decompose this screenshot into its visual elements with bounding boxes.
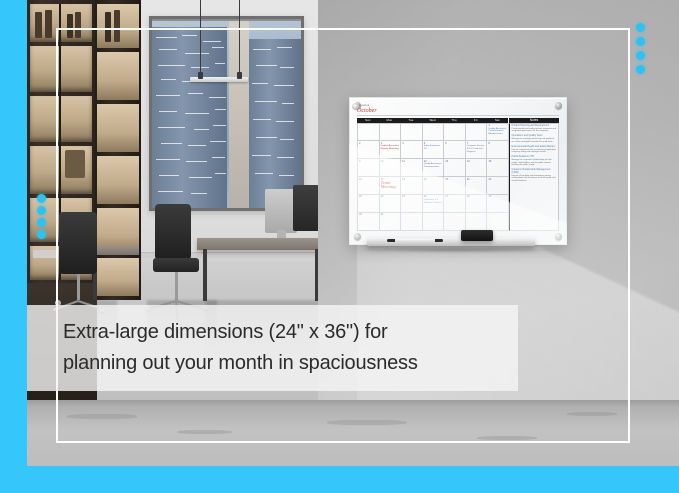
office-chair-center-post xyxy=(175,272,178,300)
calendar-day-cell[interactable] xyxy=(423,213,445,231)
calendar-day-cell[interactable] xyxy=(401,124,423,142)
calendar-day-number: 20 xyxy=(445,178,464,181)
calendar-day-number: 16 xyxy=(359,178,378,181)
calendar-day-cell[interactable]: 23 xyxy=(358,195,380,213)
calendar-day-number: 28 xyxy=(467,195,486,198)
window-glass xyxy=(152,19,301,208)
caption-overlay: Extra-large dimensions (24" x 36") for p… xyxy=(0,305,518,391)
calendar-day-number: 13 xyxy=(445,160,464,163)
calendar-day-number: 18 xyxy=(402,178,421,181)
calendar-day-number: 15 xyxy=(488,160,507,163)
calendar-day-cell[interactable]: 3Product Assurance Reports Marketing xyxy=(380,141,402,159)
accent-dot xyxy=(37,218,46,227)
calendar-event: Operations 2.0 Software Counters xyxy=(424,199,443,204)
note-item: Operations and Quality TeamManage the ex… xyxy=(512,135,557,143)
desk-leg-left xyxy=(203,249,207,301)
calendar-day-cell[interactable]: 21 xyxy=(466,177,488,195)
calendar-day-cell[interactable] xyxy=(487,213,509,231)
calendar-day-cell[interactable]: 15 xyxy=(487,159,509,177)
calendar-body: 1Quality Assurance Communication Adminis… xyxy=(357,123,559,231)
brand-logo-icon xyxy=(352,103,359,110)
office-chair-center-back xyxy=(155,204,191,260)
calendar-day-number: 24 xyxy=(381,195,400,198)
calendar-day-cell[interactable]: 12Quality Assurance Communication xyxy=(423,159,445,177)
calendar-day-cell[interactable]: 14 xyxy=(466,159,488,177)
calendar-day-cell[interactable]: 31 xyxy=(380,213,402,231)
calendar-day-cell[interactable] xyxy=(444,124,466,142)
calendar-day-cell[interactable]: 26Operations 2.0 Software Counters xyxy=(423,195,445,213)
calendar-day-cell[interactable]: 11 xyxy=(401,159,423,177)
calendar-day-cell[interactable]: 16 xyxy=(358,177,380,195)
calendar-day-cell[interactable]: 1Quality Assurance Communication Adminis… xyxy=(487,124,509,142)
calendar-day-number: 2 xyxy=(359,142,378,145)
calendar-event: Customer Service R & D Lead and Progress xyxy=(467,145,486,153)
whiteboard-drop-shadow xyxy=(355,247,561,253)
calendar-day-cell[interactable]: 10 xyxy=(380,159,402,177)
calendar-day-cell[interactable] xyxy=(466,124,488,142)
office-chair-center-seat xyxy=(153,258,199,272)
office-scene-photo: Advantus October Sun Mon Tue Wed Thu Fri… xyxy=(27,0,679,466)
calendar-day-cell[interactable] xyxy=(358,124,380,142)
calendar-day-cell[interactable]: 22 xyxy=(487,177,509,195)
accent-dot xyxy=(37,230,46,239)
calendar-day-cell[interactable]: 19 xyxy=(423,177,445,195)
calendar-day-number: 27 xyxy=(445,195,464,198)
note-item: Environmental Health and Safety MetricsE… xyxy=(512,146,557,154)
accent-dot xyxy=(636,37,645,46)
calendar-event: Product Assurance Reports Marketing xyxy=(381,145,400,150)
accent-dot xyxy=(37,194,46,203)
floor-surface xyxy=(27,400,679,466)
calendar-day-cell[interactable] xyxy=(423,124,445,142)
marker-cap-left xyxy=(387,239,395,242)
note-item: Customer Relationship Management (CRM)En… xyxy=(512,169,557,182)
whiteboard-eraser[interactable] xyxy=(461,230,493,241)
notes-column[interactable]: Product Planning and DevelopmentCreate p… xyxy=(509,123,559,231)
calendar-day-cell[interactable]: 18 xyxy=(401,177,423,195)
note-body: Manage the existing partnership and qual… xyxy=(512,138,557,143)
marker-cap-right xyxy=(435,239,443,242)
calendar-event: Team Meeting xyxy=(381,181,400,191)
accent-dots-left xyxy=(37,194,46,242)
pendant-clip-right xyxy=(237,72,242,79)
calendar-event: Sales Evaluation 2.0 xyxy=(424,145,443,150)
pendant-clip-left xyxy=(198,72,203,79)
calendar-day-number: 8 xyxy=(488,142,507,145)
calendar-day-cell[interactable]: 25 xyxy=(401,195,423,213)
calendar-event: Quality Assurance Communication Administ… xyxy=(488,128,507,136)
calendar-day-number: 30 xyxy=(359,213,378,216)
accent-dot xyxy=(37,206,46,215)
calendar-day-cell[interactable]: 9 xyxy=(358,159,380,177)
calendar-day-cell[interactable]: 6 xyxy=(444,141,466,159)
note-body: Ensure compliance with environment regul… xyxy=(512,149,557,154)
mount-screw-bottom-right xyxy=(555,233,562,240)
office-chair-left-post xyxy=(77,274,80,300)
bookshelf-secondary xyxy=(95,0,141,300)
calendar-day-number: 22 xyxy=(488,178,507,181)
calendar-day-number: 21 xyxy=(467,178,486,181)
desk-leg-right xyxy=(315,249,318,301)
accent-dot xyxy=(636,51,645,60)
calendar-day-grid[interactable]: 1Quality Assurance Communication Adminis… xyxy=(357,123,509,231)
calendar-day-number: 23 xyxy=(359,195,378,198)
calendar-day-number: 11 xyxy=(402,160,421,163)
pendant-wire-right xyxy=(239,0,240,78)
calendar-day-cell[interactable]: 30 xyxy=(358,213,380,231)
brand-border-bottom xyxy=(0,466,679,493)
calendar-day-cell[interactable]: 17Team Meeting xyxy=(380,177,402,195)
accent-dot xyxy=(636,65,645,74)
monitor-secondary xyxy=(293,185,318,231)
calendar-day-number: 10 xyxy=(381,160,400,163)
mount-screw-bottom-left xyxy=(354,233,361,240)
office-chair-left-back xyxy=(59,212,97,274)
calendar-day-number: 14 xyxy=(467,160,486,163)
calendar-day-number: 31 xyxy=(381,213,400,216)
calendar-day-cell[interactable] xyxy=(444,213,466,231)
caption-line-1: Extra-large dimensions (24" x 36") for xyxy=(63,317,518,348)
calendar-day-cell[interactable]: 2 xyxy=(358,141,380,159)
note-body: Ensure all handling and maintaining stro… xyxy=(512,175,557,183)
brand-border-left xyxy=(0,0,27,493)
calendar-day-number: 4 xyxy=(402,142,421,145)
header-rule xyxy=(357,115,559,116)
desk xyxy=(197,238,318,250)
calendar-day-cell[interactable] xyxy=(401,213,423,231)
pendant-wire-left xyxy=(200,0,201,78)
caption-line-2: planning out your month in spaciousness xyxy=(63,348,518,379)
whiteboard-brand-label: Advantus xyxy=(357,104,559,107)
calendar-day-number: 19 xyxy=(424,178,443,181)
calendar-month-label: October xyxy=(357,108,559,114)
calendar-day-cell[interactable]: 5Sales Evaluation 2.0 xyxy=(423,141,445,159)
calendar-event: Quality Assurance Communication xyxy=(424,163,443,168)
calendar-day-cell[interactable]: 8 xyxy=(487,141,509,159)
calendar-day-number: 25 xyxy=(402,195,421,198)
calendar-day-cell[interactable]: 24 xyxy=(380,195,402,213)
calendar-day-number: 9 xyxy=(359,160,378,163)
calendar-day-cell[interactable]: 7Customer Service R & D Lead and Progres… xyxy=(466,141,488,159)
note-item: Public Relations / PRManage the corporat… xyxy=(512,156,557,166)
accent-dots-right xyxy=(636,23,645,79)
calendar-day-cell[interactable]: 4 xyxy=(401,141,423,159)
calendar-day-cell[interactable]: 28 xyxy=(466,195,488,213)
accent-dot xyxy=(636,23,645,32)
calendar-printed-area: Advantus October Sun Mon Tue Wed Thu Fri… xyxy=(357,104,559,230)
calendar-day-cell[interactable]: 20 xyxy=(444,177,466,195)
office-window xyxy=(149,16,304,211)
calendar-day-cell[interactable] xyxy=(466,213,488,231)
product-lifestyle-image: Advantus October Sun Mon Tue Wed Thu Fri… xyxy=(0,0,679,493)
note-body: Manage the corporate relationships with … xyxy=(512,159,557,167)
glass-whiteboard-calendar[interactable]: Advantus October Sun Mon Tue Wed Thu Fri… xyxy=(349,97,567,252)
calendar-day-cell[interactable]: 13 xyxy=(444,159,466,177)
note-body: Create production-leading service progra… xyxy=(512,128,557,133)
calendar-day-cell[interactable] xyxy=(380,124,402,142)
calendar-day-cell[interactable]: 27 xyxy=(444,195,466,213)
calendar-day-cell[interactable]: 29 xyxy=(487,195,509,213)
note-item: Product Planning and DevelopmentCreate p… xyxy=(512,125,557,133)
calendar-day-number: 29 xyxy=(488,195,507,198)
calendar-day-number: 6 xyxy=(445,142,464,145)
